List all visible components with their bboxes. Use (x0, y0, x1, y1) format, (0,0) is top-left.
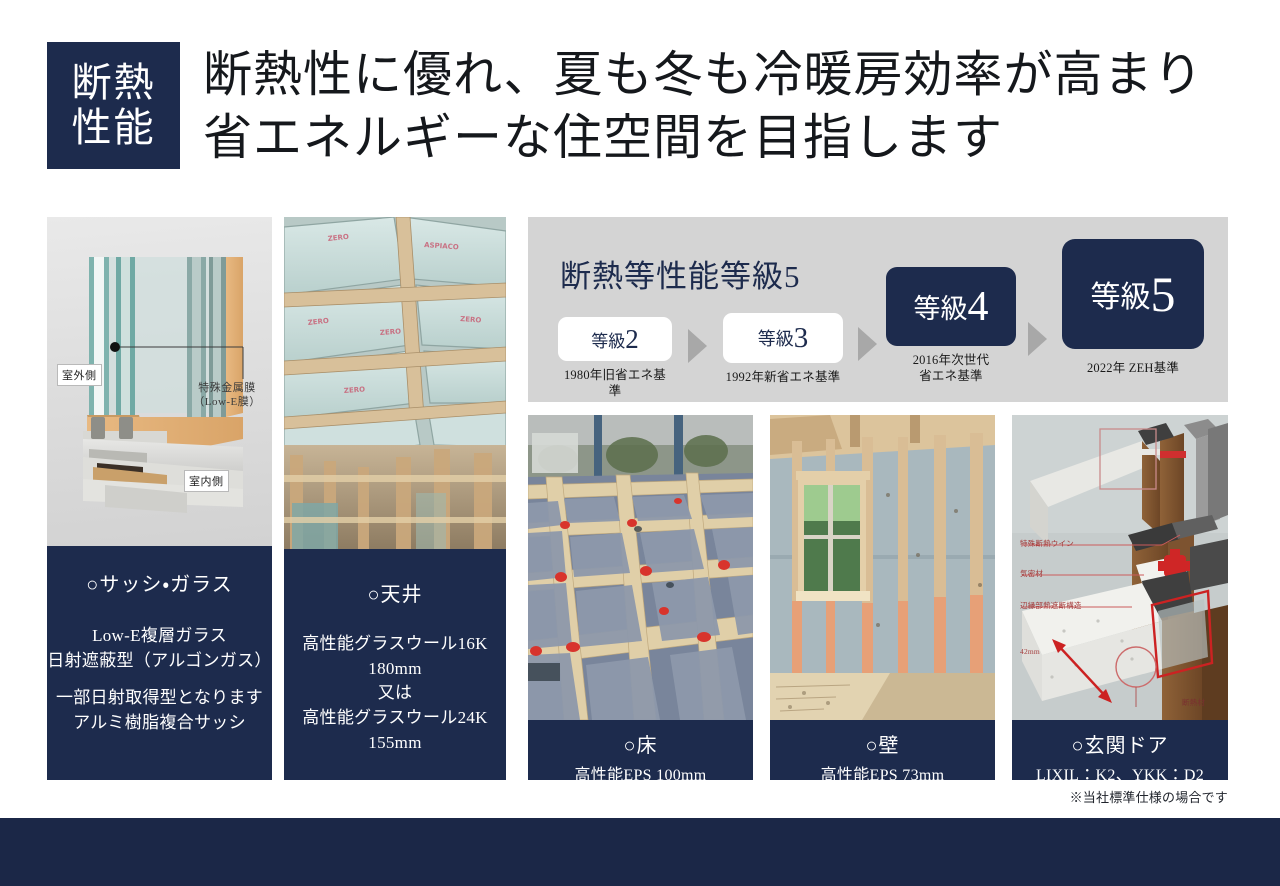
grade-caption-4-line2: 省エネ基準 (886, 368, 1016, 384)
page-header: 断熱 性能 断熱性に優れ、夏も冬も冷暖房効率が高まり 省エネルギーな住空間を目指… (0, 0, 1280, 200)
label-lowe-film-line1: 特殊金属膜 (198, 382, 256, 394)
sash-caption-body: Low-E複層ガラス 日射遮蔽型（アルゴンガス） 一部日射取得型となります アル… (47, 624, 272, 736)
grade-box-2: 等級2 (558, 317, 672, 361)
card-floor: ○床 高性能EPS 100mm (528, 415, 753, 780)
section-badge: 断熱 性能 (47, 42, 180, 169)
sash-body-line3: 一部日射取得型となります (47, 686, 272, 711)
grade-item-5: 等級5 2022年 ZEH基準 (1062, 239, 1204, 376)
door-caption-body: LIXIL：K2、YKK：D2 (1012, 764, 1228, 780)
grade-prefix-2: 等級 (591, 327, 625, 352)
door-diagram-svg (1012, 415, 1228, 720)
svg-text:ZERO: ZERO (344, 386, 366, 395)
label-lowe-film: 特殊金属膜 （Low-E膜） (187, 382, 267, 410)
floor-caption: ○床 高性能EPS 100mm (528, 733, 753, 780)
poster-page: 断熱 性能 断熱性に優れ、夏も冬も冷暖房効率が高まり 省エネルギーな住空間を目指… (0, 0, 1280, 886)
floor-caption-body: 高性能EPS 100mm (528, 764, 753, 780)
ceiling-caption-title: ○天井 (284, 582, 506, 608)
sash-caption-title: ○サッシ・ガラス (47, 572, 272, 598)
grade-caption-2: 1980年旧省エネ基準 (558, 367, 672, 399)
door-label-2: 気密材 (1020, 568, 1043, 579)
door-label-3: 辺縁部熱遮断構造 (1020, 600, 1082, 611)
page-title-line1: 断熱性に優れ、夏も冬も冷暖房効率が高まり (203, 44, 1243, 107)
grade-arrow-1 (688, 329, 707, 363)
door-label-1: 特殊断熱ウイン (1020, 538, 1074, 549)
section-badge-line1: 断熱 (72, 61, 156, 106)
ceiling-photo-svg: ZERO ASPIACO ZERO ZERO ZERO ZERO (284, 217, 506, 549)
spacer (47, 673, 272, 686)
grade-prefix-3: 等級 (758, 325, 794, 351)
grade-caption-3: 1992年新省エネ基準 (723, 369, 843, 385)
grade-box-3: 等級3 (723, 313, 843, 363)
svg-text:ZERO: ZERO (460, 315, 482, 324)
grade-caption-4-line1: 2016年次世代 (886, 352, 1016, 368)
standard-spec-note: ※当社標準仕様の場合です (1012, 787, 1228, 806)
sash-body-line1: Low-E複層ガラス (47, 624, 272, 649)
grade-num-4: 4 (968, 283, 989, 331)
grade-prefix-4: 等級 (914, 287, 968, 326)
page-footer: うちなーらいふ LIXIL不動産ショップ Nice不動産 本店 GRAFARE … (0, 818, 1280, 886)
ceiling-body-line5: 155mm (284, 731, 506, 756)
floor-insulation-photo (528, 415, 753, 720)
insulation-grade-panel: 断熱等性能等級5 等級2 1980年旧省エネ基準 等級3 1992年新省エネ基準… (528, 217, 1228, 402)
grade-caption-4: 2016年次世代 省エネ基準 (886, 352, 1016, 384)
grade-item-3: 等級3 1992年新省エネ基準 (723, 313, 843, 385)
wall-caption-body: 高性能EPS 73mm (770, 764, 995, 780)
door-label-4: 42mm (1020, 647, 1040, 656)
sash-body-line4: アルミ樹脂複合サッシ (47, 711, 272, 736)
grade-num-5: 5 (1151, 265, 1176, 323)
section-badge-line2: 性能 (72, 106, 156, 151)
sash-body-line2: 日射遮蔽型（アルゴンガス） (47, 649, 272, 674)
page-title: 断熱性に優れ、夏も冬も冷暖房効率が高まり 省エネルギーな住空間を目指します (203, 44, 1243, 169)
grade-arrow-2 (858, 327, 877, 361)
ceiling-caption: ○天井 高性能グラスウール16K 180mm 又は 高性能グラスウール24K 1… (284, 582, 506, 755)
floor-photo-svg (528, 415, 753, 720)
card-wall: ○壁 高性能EPS 73mm (770, 415, 995, 780)
door-caption: ○玄関ドア LIXIL：K2、YKK：D2 (1012, 733, 1228, 780)
grade-item-4: 等級4 2016年次世代 省エネ基準 (886, 267, 1016, 384)
grade-box-5: 等級5 (1062, 239, 1204, 349)
label-lowe-film-line2: （Low-E膜） (193, 396, 261, 408)
card-ceiling: ZERO ASPIACO ZERO ZERO ZERO ZERO (284, 217, 506, 780)
label-outside: 室外側 (57, 364, 102, 386)
grade-prefix-5: 等級 (1091, 272, 1151, 316)
svg-text:ZERO: ZERO (380, 328, 402, 337)
grade-num-2: 2 (625, 324, 639, 355)
grade-caption-5: 2022年 ZEH基準 (1062, 360, 1204, 376)
wall-caption: ○壁 高性能EPS 73mm (770, 733, 995, 780)
grade-sequence: 等級2 1980年旧省エネ基準 等級3 1992年新省エネ基準 等級4 2016… (528, 217, 1228, 402)
wall-photo-svg (770, 415, 995, 720)
door-label-5: 断熱材 (1182, 697, 1205, 708)
card-sash-glass: 室外側 室内側 特殊金属膜 （Low-E膜） ○サッシ・ガラス Low-E複層ガ… (47, 217, 272, 780)
door-cross-section-photo: 特殊断熱ウイン 気密材 辺縁部熱遮断構造 42mm 断熱材 (1012, 415, 1228, 720)
wall-caption-title: ○壁 (770, 733, 995, 759)
label-inside: 室内側 (184, 470, 229, 492)
sash-cross-section-photo: 室外側 室内側 特殊金属膜 （Low-E膜） (47, 217, 272, 546)
card-entrance-door: 特殊断熱ウイン 気密材 辺縁部熱遮断構造 42mm 断熱材 ○玄関ドア LIXI… (1012, 415, 1228, 780)
sash-caption: ○サッシ・ガラス Low-E複層ガラス 日射遮蔽型（アルゴンガス） 一部日射取得… (47, 572, 272, 736)
floor-caption-title: ○床 (528, 733, 753, 759)
ceiling-body-line4: 高性能グラスウール24K (284, 706, 506, 731)
ceiling-caption-body: 高性能グラスウール16K 180mm 又は 高性能グラスウール24K 155mm (284, 632, 506, 755)
page-title-line2: 省エネルギーな住空間を目指します (203, 107, 1243, 170)
ceiling-body-line3: 又は (284, 681, 506, 706)
grade-box-4: 等級4 (886, 267, 1016, 346)
ceiling-insulation-photo: ZERO ASPIACO ZERO ZERO ZERO ZERO (284, 217, 506, 549)
grade-item-2: 等級2 1980年旧省エネ基準 (558, 317, 672, 399)
grade-arrow-3 (1028, 322, 1047, 356)
grade-num-3: 3 (794, 322, 809, 355)
wall-insulation-photo (770, 415, 995, 720)
ceiling-body-line1: 高性能グラスウール16K (284, 632, 506, 657)
door-caption-title: ○玄関ドア (1012, 733, 1228, 759)
ceiling-body-line2: 180mm (284, 657, 506, 682)
